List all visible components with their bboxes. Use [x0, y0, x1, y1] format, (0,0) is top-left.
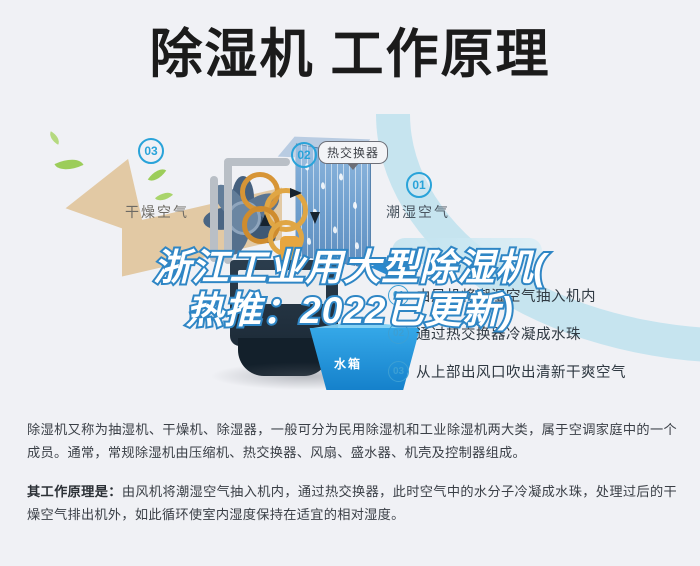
humid-air-label: 潮湿空气 — [386, 202, 450, 222]
marker-03: 03 — [138, 138, 164, 164]
step-number: 01 — [388, 285, 409, 306]
body-copy: 除湿机又称为抽湿机、干燥机、除湿器，一般可分为民用除湿机和工业除湿机两大类，属于… — [27, 418, 677, 534]
step-item-01: 01 由风机将潮湿空气抽入机内 — [388, 285, 688, 306]
step-item-02: 02 通过热交换器冷凝成水珠 — [388, 323, 688, 344]
leaf-icon — [47, 131, 62, 144]
step-text: 通过热交换器冷凝成水珠 — [416, 323, 581, 344]
step-number: 02 — [388, 323, 409, 344]
paragraph-1: 除湿机又称为抽湿机、干燥机、除湿器，一般可分为民用除湿机和工业除湿机两大类，属于… — [27, 418, 677, 464]
title-part-1: 除湿机 — [150, 25, 315, 84]
step-number: 03 — [388, 361, 409, 382]
step-text: 由风机将潮湿空气抽入机内 — [416, 285, 596, 306]
humid-air-stream-icon — [392, 238, 542, 264]
paragraph-2: 其工作原理是：由风机将潮湿空气抽入机内，通过热交换器，此时空气中的水分子冷凝成水… — [27, 480, 677, 526]
step-list: 01 由风机将潮湿空气抽入机内 02 通过热交换器冷凝成水珠 03 从上部出风口… — [388, 285, 688, 399]
air-inlet-arrow-icon — [370, 256, 394, 278]
heat-exchanger-callout: 热交换器 — [318, 141, 388, 164]
title-part-2: 工作原理 — [331, 25, 551, 84]
step-text: 从上部出风口吹出清新干爽空气 — [416, 361, 626, 382]
marker-02: 02 — [291, 142, 317, 168]
water-tank-label: 水箱 — [334, 355, 362, 372]
dry-air-label: 干燥空气 — [125, 202, 189, 222]
paragraph-2-label: 其工作原理是： — [27, 484, 122, 499]
page-title: 除湿机工作原理 — [0, 24, 700, 86]
paragraph-2-text: 由风机将潮湿空气抽入机内，通过热交换器，此时空气中的水分子冷凝成水珠，处理过后的… — [27, 484, 677, 522]
marker-01: 01 — [406, 172, 432, 198]
air-inlet-bar-icon — [392, 262, 418, 272]
step-item-03: 03 从上部出风口吹出清新干爽空气 — [388, 361, 688, 382]
dehumidifier-diagram: 干燥空气 — [0, 110, 700, 400]
page-root: 除湿机工作原理 干燥空气 — [0, 0, 700, 566]
copper-coil-icon — [238, 158, 310, 268]
